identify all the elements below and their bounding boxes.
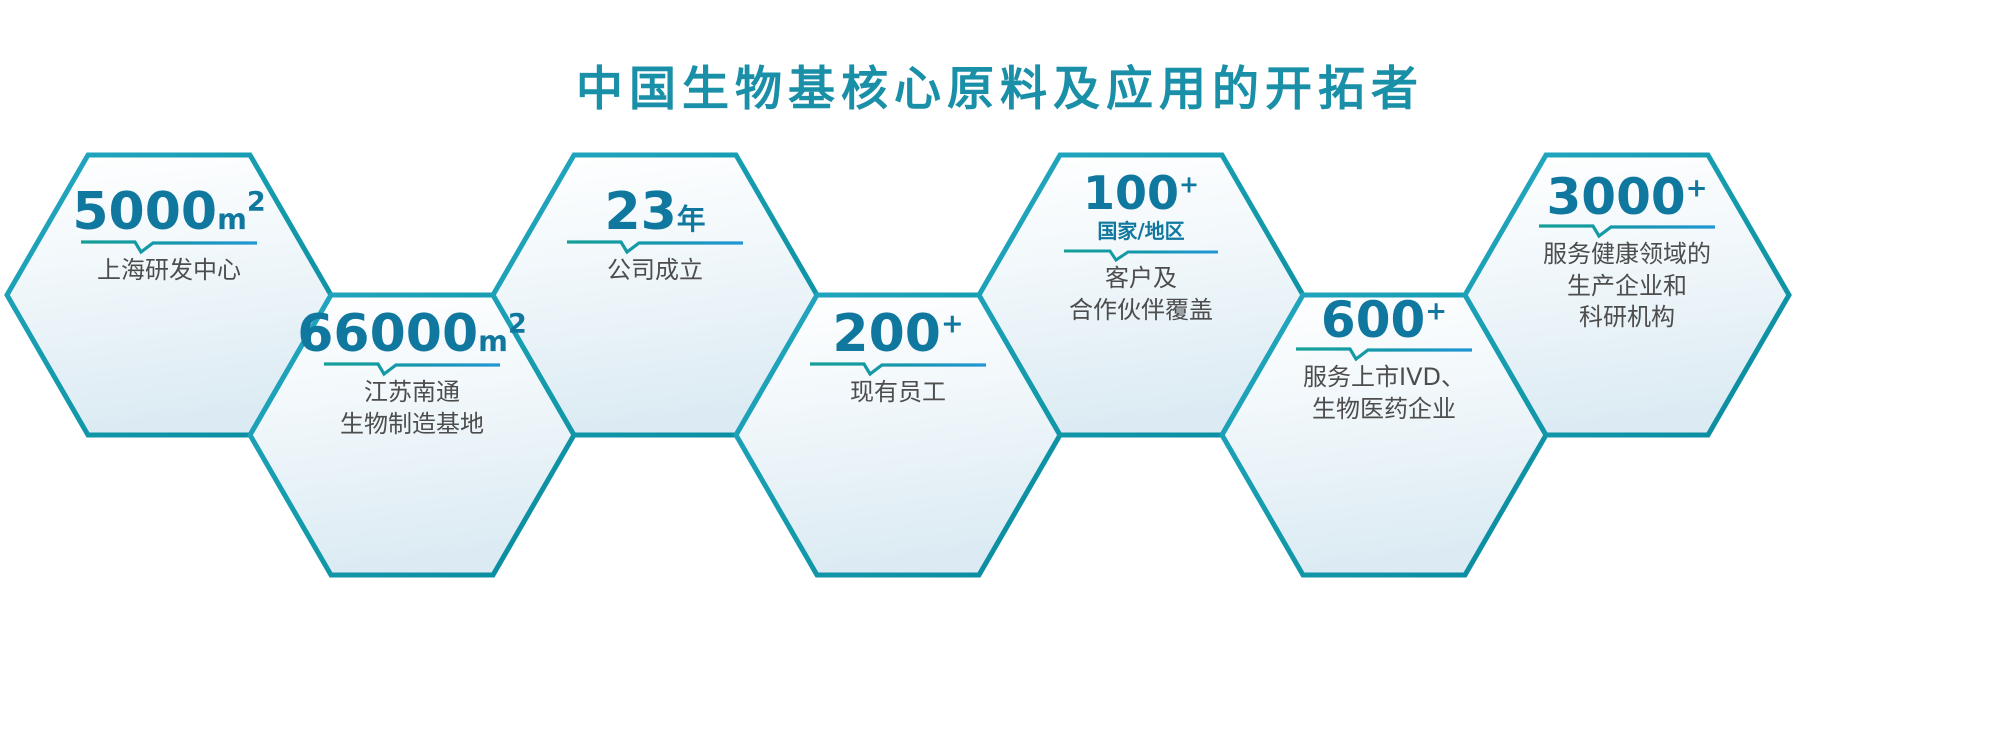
hexagon-grid: 5000m2 上海研发中心 66000m2 江苏南通 生物制造基地: [0, 0, 2000, 734]
hexagon-cell-5[interactable]: 100+ 国家/地区 客户及 合作伙伴覆盖: [1001, 170, 1281, 326]
hex-number-4: 200+: [758, 308, 1038, 360]
hex-label-line: 现有员工: [758, 377, 1038, 409]
infographic-page: 中国生物基核心原料及应用的开拓者: [0, 0, 2000, 734]
hex-number-2: 66000m2: [262, 308, 562, 360]
hex-superscript-6: +: [1425, 296, 1447, 326]
hex-label-7: 服务健康领域的 生产企业和 科研机构: [1487, 239, 1767, 334]
hex-superscript-1: 2: [247, 187, 266, 218]
hex-number-5: 100+: [1001, 170, 1281, 216]
hex-label-line: 生物医药企业: [1244, 394, 1524, 426]
hex-sublabel-5: 国家/地区: [1001, 219, 1281, 243]
hex-label-2: 江苏南通 生物制造基地: [262, 377, 562, 440]
hex-superscript-2: 2: [508, 309, 527, 340]
hex-label-line: 服务健康领域的: [1487, 239, 1767, 271]
hexagon-cell-4[interactable]: 200+ 现有员工: [758, 308, 1038, 409]
hex-number-7: 3000+: [1487, 172, 1767, 222]
hex-label-line: 江苏南通: [262, 377, 562, 409]
hex-label-4: 现有员工: [758, 377, 1038, 409]
hex-number-6: 600+: [1244, 295, 1524, 345]
hex-unit-1: m: [217, 202, 247, 236]
hexagon-cell-2[interactable]: 66000m2 江苏南通 生物制造基地: [262, 308, 562, 440]
hex-number-3: 23年: [515, 186, 795, 238]
hex-label-5: 客户及 合作伙伴覆盖: [1001, 263, 1281, 326]
hex-label-line: 生物制造基地: [262, 409, 562, 441]
hexagon-cell-3[interactable]: 23年 公司成立: [515, 186, 795, 287]
hexagon-cell-1[interactable]: 5000m2 上海研发中心: [29, 186, 309, 287]
hex-label-3: 公司成立: [515, 255, 795, 287]
hex-number-1: 5000m2: [29, 186, 309, 238]
hex-unit-2: m: [478, 324, 508, 358]
hex-label-line: 科研机构: [1487, 302, 1767, 334]
hex-superscript-5: +: [1179, 171, 1199, 199]
hexagon-cell-7[interactable]: 3000+ 服务健康领域的 生产企业和 科研机构: [1487, 172, 1767, 334]
hex-unit-3: 年: [677, 202, 706, 236]
divider-line-5: [1062, 247, 1220, 263]
hex-label-line: 公司成立: [515, 255, 795, 287]
hex-superscript-7: +: [1686, 173, 1708, 203]
hex-label-line: 合作伙伴覆盖: [1001, 295, 1281, 327]
hex-label-1: 上海研发中心: [29, 255, 309, 287]
hex-label-line: 客户及: [1001, 263, 1281, 295]
hex-label-6: 服务上市IVD、 生物医药企业: [1244, 362, 1524, 425]
hexagon-cell-6[interactable]: 600+ 服务上市IVD、 生物医药企业: [1244, 295, 1524, 425]
hex-label-line: 服务上市IVD、: [1244, 362, 1524, 394]
hex-superscript-4: +: [941, 309, 964, 340]
hex-label-line: 上海研发中心: [29, 255, 309, 287]
hex-label-line: 生产企业和: [1487, 271, 1767, 303]
